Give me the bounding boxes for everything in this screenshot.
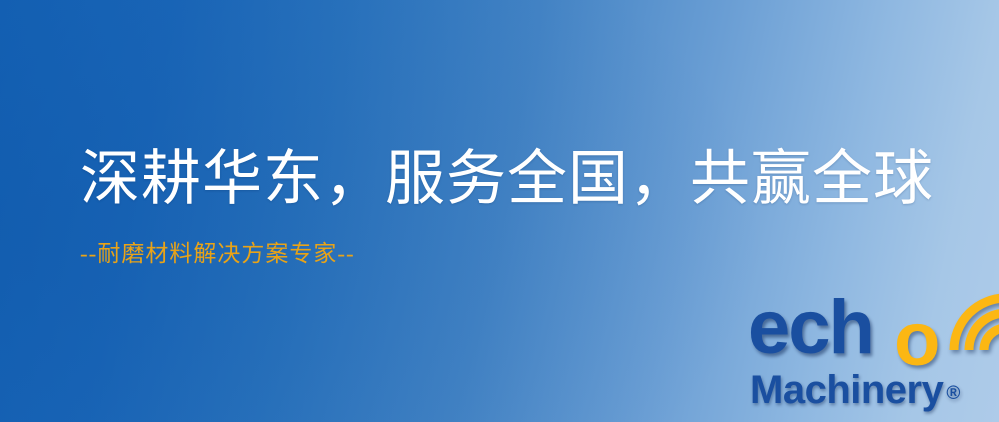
logo-text-machinery: Machinery® — [750, 370, 960, 410]
banner-subline: --耐磨材料解决方案专家-- — [80, 240, 940, 268]
registered-trademark-icon: ® — [946, 383, 960, 404]
echo-waves-icon — [944, 288, 999, 358]
logo-text-ech: ech — [748, 290, 873, 366]
logo-text-o: o — [894, 302, 940, 378]
logo-machinery-label: Machinery — [750, 368, 943, 412]
echo-machinery-logo: ech o Machinery® — [748, 296, 999, 422]
banner-copy-block: 深耕华东，服务全国，共赢全球 --耐磨材料解决方案专家-- — [80, 148, 940, 267]
banner-headline: 深耕华东，服务全国，共赢全球 — [80, 148, 940, 212]
promo-banner: 深耕华东，服务全国，共赢全球 --耐磨材料解决方案专家-- ech o Mach… — [0, 0, 999, 422]
logo-wordmark: ech o — [748, 296, 999, 376]
